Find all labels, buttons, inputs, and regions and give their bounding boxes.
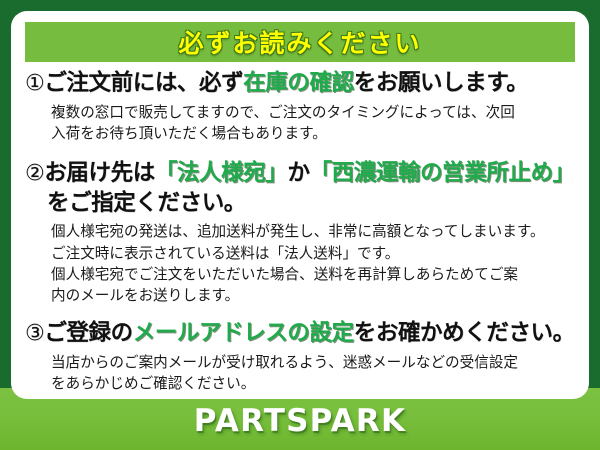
- notice-item-3-number: ③: [25, 321, 44, 346]
- notice-item-1-number: ①: [25, 71, 44, 96]
- notice-item-2-heading-part-1: お届け先は: [44, 160, 155, 186]
- notice-item-1-heading-highlight: 在庫の確認: [243, 70, 354, 96]
- notice-item-2-heading: ②お届け先は「法人様宛」か「西濃運輸の営業所止め」 をご指定ください。: [25, 159, 577, 218]
- notice-item-2-body-line-3: 個人様宅宛でご注文をいただいた場合、送料を再計算しあらためてご案: [51, 264, 577, 285]
- notice-card: 必ずお読みください ①ご注文前には、必ず在庫の確認をお願いします。 複数の窓口で…: [11, 11, 589, 399]
- notice-banner: PARTSPARK 必ずお読みください ①ご注文前には、必ず在庫の確認をお願いし…: [0, 0, 600, 450]
- notice-item-2-number: ②: [25, 161, 44, 186]
- notice-item-2-heading-highlight-1: 「法人様宛」: [155, 160, 288, 186]
- notice-item-3-heading-part-3: をお確かめください。: [354, 320, 575, 346]
- notice-item-1-body-line-1: 複数の窓口で販売してますので、ご注文のタイミングによっては、次回: [51, 102, 577, 123]
- notice-item-2-heading-part-3: か: [287, 160, 309, 186]
- notice-item-1: ①ご注文前には、必ず在庫の確認をお願いします。 複数の窓口で販売してますので、ご…: [25, 69, 577, 144]
- notice-item-1-heading: ①ご注文前には、必ず在庫の確認をお願いします。: [25, 69, 577, 99]
- notice-item-3-body: 当店からのご案内メールが受け取れるよう、迷惑メールなどの受信設定 をあらかじめご…: [25, 352, 577, 394]
- notice-item-3-body-line-1: 当店からのご案内メールが受け取れるよう、迷惑メールなどの受信設定: [51, 352, 577, 373]
- notice-item-1-body-line-2: 入荷をお待ち頂いただく場合もあります。: [51, 123, 577, 144]
- notice-item-3-body-line-2: をあらかじめご確認ください。: [51, 373, 577, 394]
- notice-item-3: ③ご登録のメールアドレスの設定をお確かめください。 当店からのご案内メールが受け…: [25, 319, 577, 394]
- notice-content: ①ご注文前には、必ず在庫の確認をお願いします。 複数の窓口で販売してますので、ご…: [11, 69, 589, 396]
- notice-item-2-body-line-4: 内のメールをお送りします。: [51, 285, 577, 306]
- notice-item-2-body-line-1: 個人様宅宛の発送は、追加送料が発生し、非常に高額となってしまいます。: [51, 221, 577, 242]
- notice-item-1-body: 複数の窓口で販売してますので、ご注文のタイミングによっては、次回 入荷をお待ち頂…: [25, 102, 577, 144]
- notice-item-1-heading-part-1: ご注文前には、必ず: [44, 70, 243, 96]
- notice-item-1-heading-part-3: をお願いします。: [354, 70, 529, 96]
- notice-item-3-heading-part-1: ご登録の: [44, 320, 132, 346]
- header-bar: 必ずお読みください: [25, 22, 575, 62]
- notice-item-2-heading-continuation: をご指定ください。: [25, 189, 577, 219]
- notice-item-3-heading-highlight: メールアドレスの設定: [133, 320, 354, 346]
- page-title: 必ずお読みください: [178, 24, 421, 60]
- notice-item-3-heading: ③ご登録のメールアドレスの設定をお確かめください。: [25, 319, 577, 349]
- notice-item-2-body-line-2: ご注文時に表示されている送料は「法人送料」です。: [51, 243, 577, 264]
- notice-item-2: ②お届け先は「法人様宛」か「西濃運輸の営業所止め」 をご指定ください。 個人様宅…: [25, 159, 577, 306]
- notice-item-2-body: 個人様宅宛の発送は、追加送料が発生し、非常に高額となってしまいます。 ご注文時に…: [25, 221, 577, 306]
- notice-item-2-heading-highlight-2: 「西濃運輸の営業所止め」: [310, 160, 575, 186]
- brand-logo: PARTSPARK: [194, 403, 406, 439]
